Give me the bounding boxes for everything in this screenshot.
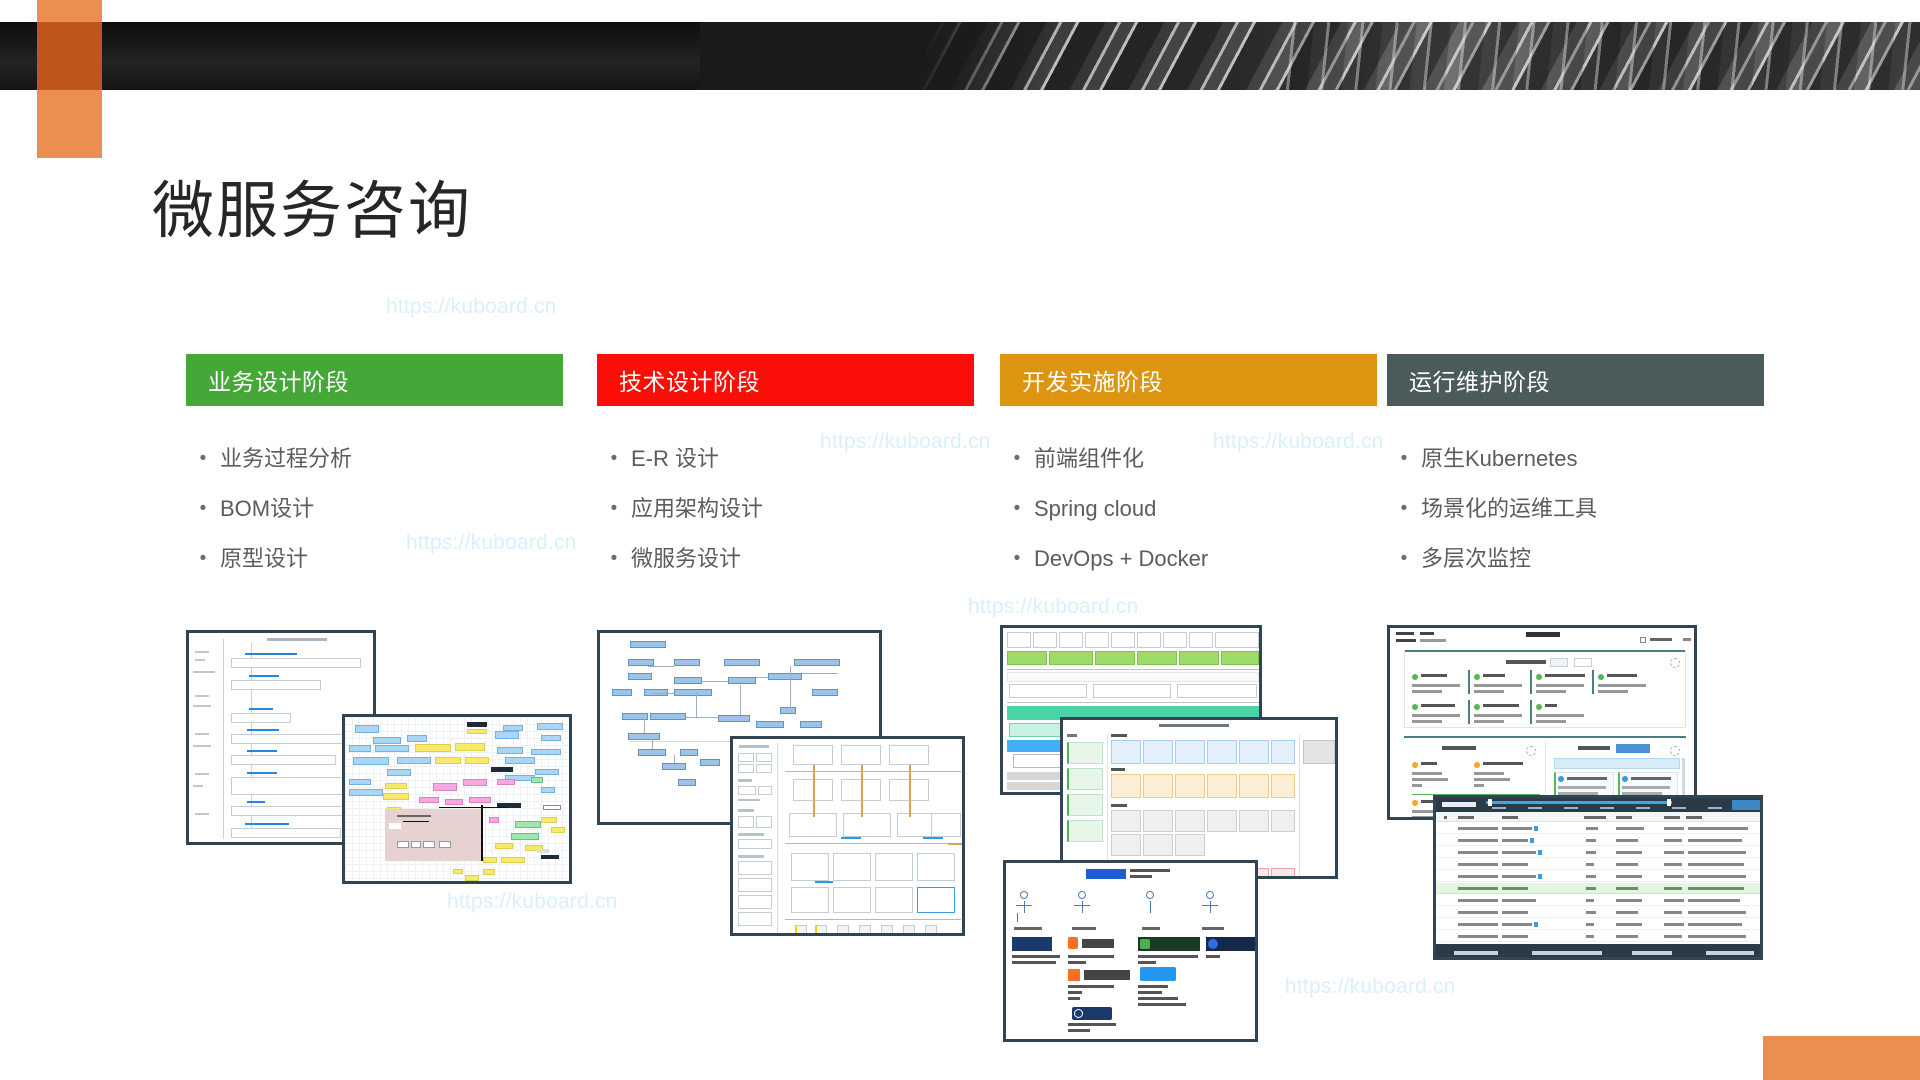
bullet-dot-icon: • — [597, 494, 631, 524]
thumbnail-application-architecture-diagram[interactable] — [730, 736, 965, 936]
top-left-orange-accent-overlay — [37, 22, 102, 90]
list-item-label: 原生Kubernetes — [1421, 444, 1578, 474]
column-business-design: 业务设计阶段 • 业务过程分析 • BOM设计 • 原型设计 — [186, 354, 563, 594]
column-technical-design: 技术设计阶段 • E-R 设计 • 应用架构设计 • 微服务设计 — [597, 354, 974, 594]
list-item-label: DevOps + Docker — [1034, 544, 1208, 574]
bullet-list-business-design: • 业务过程分析 • BOM设计 • 原型设计 — [186, 444, 563, 574]
thumbnail-kanban-board[interactable] — [1060, 717, 1338, 879]
list-item: • 原生Kubernetes — [1387, 444, 1764, 474]
bullet-dot-icon: • — [1387, 494, 1421, 524]
list-item: • 多层次监控 — [1387, 544, 1764, 574]
list-item: • 场景化的运维工具 — [1387, 494, 1764, 524]
bullet-dot-icon: • — [186, 444, 220, 474]
banner-sky-gradient — [0, 22, 700, 90]
bullet-dot-icon: • — [1387, 444, 1421, 474]
list-item: • Spring cloud — [1000, 494, 1377, 524]
list-item: • 应用架构设计 — [597, 494, 974, 524]
list-item-label: 应用架构设计 — [631, 494, 763, 524]
list-item-label: E-R 设计 — [631, 444, 719, 474]
thumbnail-kuboard-dashboard[interactable] — [1387, 625, 1697, 820]
list-item-label: 原型设计 — [220, 544, 308, 574]
bullet-dot-icon: • — [186, 494, 220, 524]
bullet-list-operations: • 原生Kubernetes • 场景化的运维工具 • 多层次监控 — [1387, 444, 1764, 574]
watermark: https://kuboard.cn — [386, 295, 557, 319]
list-item: • BOM设计 — [186, 494, 563, 524]
bullet-dot-icon: • — [597, 444, 631, 474]
watermark: https://kuboard.cn — [447, 890, 618, 914]
bullet-dot-icon: • — [1000, 544, 1034, 574]
list-item-label: 前端组件化 — [1034, 444, 1144, 474]
bullet-dot-icon: • — [597, 544, 631, 574]
page-title: 微服务咨询 — [152, 160, 472, 250]
phase-header-operations: 运行维护阶段 — [1387, 354, 1764, 406]
list-item: • 微服务设计 — [597, 544, 974, 574]
thumbnail-devops-toolchain[interactable] — [1003, 860, 1258, 1042]
bottom-right-orange-accent — [1763, 1036, 1920, 1080]
list-item-label: 业务过程分析 — [220, 444, 352, 474]
watermark: https://kuboard.cn — [968, 595, 1139, 619]
bullet-dot-icon: • — [1000, 494, 1034, 524]
phase-header-business-design: 业务设计阶段 — [186, 354, 563, 406]
thumbnail-event-storming-board[interactable] — [342, 714, 572, 884]
list-item: • 业务过程分析 — [186, 444, 563, 474]
column-development: 开发实施阶段 • 前端组件化 • Spring cloud • DevOps +… — [1000, 354, 1377, 594]
list-item: • 原型设计 — [186, 544, 563, 574]
bullet-dot-icon: • — [186, 544, 220, 574]
list-item-label: BOM设计 — [220, 494, 314, 524]
list-item-label: Spring cloud — [1034, 494, 1156, 524]
list-item-label: 微服务设计 — [631, 544, 741, 574]
column-operations: 运行维护阶段 • 原生Kubernetes • 场景化的运维工具 • 多层次监控 — [1387, 354, 1764, 594]
bullet-list-technical-design: • E-R 设计 • 应用架构设计 • 微服务设计 — [597, 444, 974, 574]
list-item-label: 多层次监控 — [1421, 544, 1531, 574]
watermark: https://kuboard.cn — [1285, 975, 1456, 999]
header-banner — [0, 22, 1920, 90]
list-item: • 前端组件化 — [1000, 444, 1377, 474]
phase-header-development: 开发实施阶段 — [1000, 354, 1377, 406]
list-item-label: 场景化的运维工具 — [1421, 494, 1597, 524]
bullet-dot-icon: • — [1387, 544, 1421, 574]
bullet-dot-icon: • — [1000, 444, 1034, 474]
banner-facade-texture — [1280, 22, 1920, 90]
list-item: • DevOps + Docker — [1000, 544, 1377, 574]
phase-header-technical-design: 技术设计阶段 — [597, 354, 974, 406]
bullet-list-development: • 前端组件化 • Spring cloud • DevOps + Docker — [1000, 444, 1377, 574]
thumbnail-monitoring-trace-table[interactable] — [1433, 795, 1763, 960]
list-item: • E-R 设计 — [597, 444, 974, 474]
slide-canvas: 微服务咨询 https://kuboard.cn https://kuboard… — [0, 0, 1920, 1080]
